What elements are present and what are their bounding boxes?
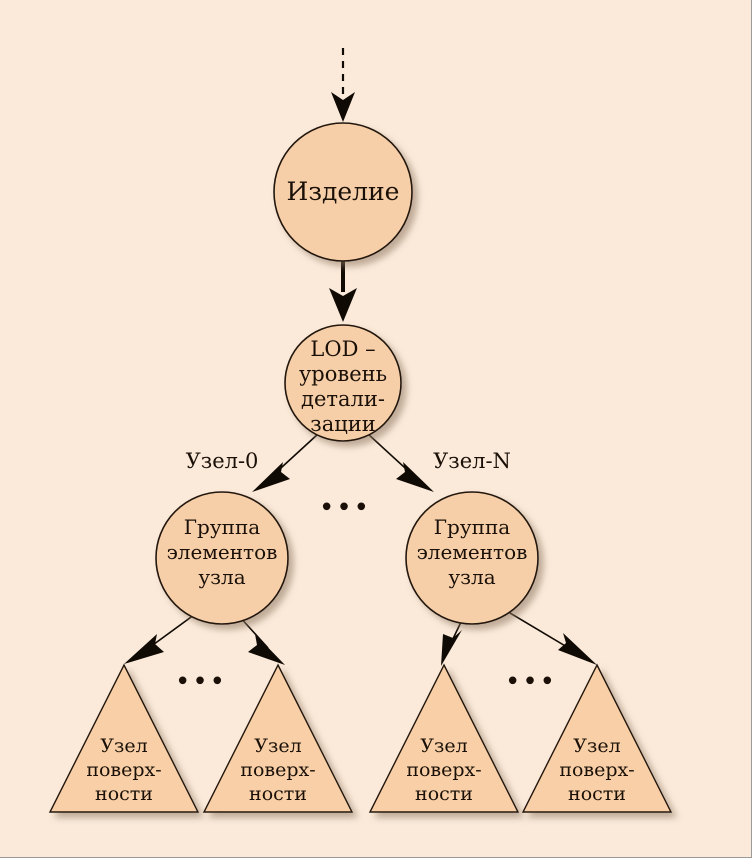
node-surface-4-label-line-2: поверх- <box>559 759 634 781</box>
node-product[interactable]: Изделие <box>274 123 412 261</box>
node-group-right-label-line-3: узла <box>448 565 495 589</box>
node-lod-label-line-4: зации <box>310 412 375 436</box>
edge-label-node-n: Узел-N <box>433 449 511 473</box>
node-surface-3-label-line-1: Узел <box>420 735 467 757</box>
node-surface-1-label-line-2: поверх- <box>86 759 161 781</box>
node-group-left-label-line-1: Группа <box>184 515 260 539</box>
node-surface-4-label-line-1: Узел <box>573 735 620 757</box>
node-surface-2-label-line-2: поверх- <box>240 759 315 781</box>
node-surface-1-label-line-3: ности <box>95 783 153 805</box>
node-lod[interactable]: LOD – уровень детали- зации <box>285 325 401 441</box>
edge-label-node-zero: Узел-0 <box>186 449 259 473</box>
node-group-right-label-line-2: элементов <box>417 540 528 564</box>
node-group-left-label-line-2: элементов <box>167 540 278 564</box>
node-lod-label-line-2: уровень <box>299 362 387 386</box>
node-group-right-label-line-1: Группа <box>434 515 510 539</box>
node-surface-3-label-line-3: ности <box>415 783 473 805</box>
node-surface-1-label-line-1: Узел <box>100 735 147 757</box>
ellipsis-between-groups: ••• <box>319 493 371 523</box>
node-surface-2-label-line-1: Узел <box>254 735 301 757</box>
hierarchy-diagram: Изделие LOD – уровень детали- зации Груп… <box>0 0 752 858</box>
ellipsis-between-surfaces-right: ••• <box>505 667 557 697</box>
node-lod-label-line-3: детали- <box>301 387 385 411</box>
ellipsis-between-surfaces-left: ••• <box>175 667 227 697</box>
diagram-canvas: Изделие LOD – уровень детали- зации Груп… <box>0 0 752 858</box>
node-group-left-label-line-3: узла <box>198 565 245 589</box>
node-group-right[interactable]: Группа элементов узла <box>406 492 538 624</box>
node-lod-label-line-1: LOD – <box>310 337 375 361</box>
node-product-label: Изделие <box>287 177 400 206</box>
node-surface-2-label-line-3: ности <box>249 783 307 805</box>
node-surface-3-label-line-2: поверх- <box>406 759 481 781</box>
node-group-left[interactable]: Группа элементов узла <box>156 492 288 624</box>
node-surface-4-label-line-3: ности <box>568 783 626 805</box>
